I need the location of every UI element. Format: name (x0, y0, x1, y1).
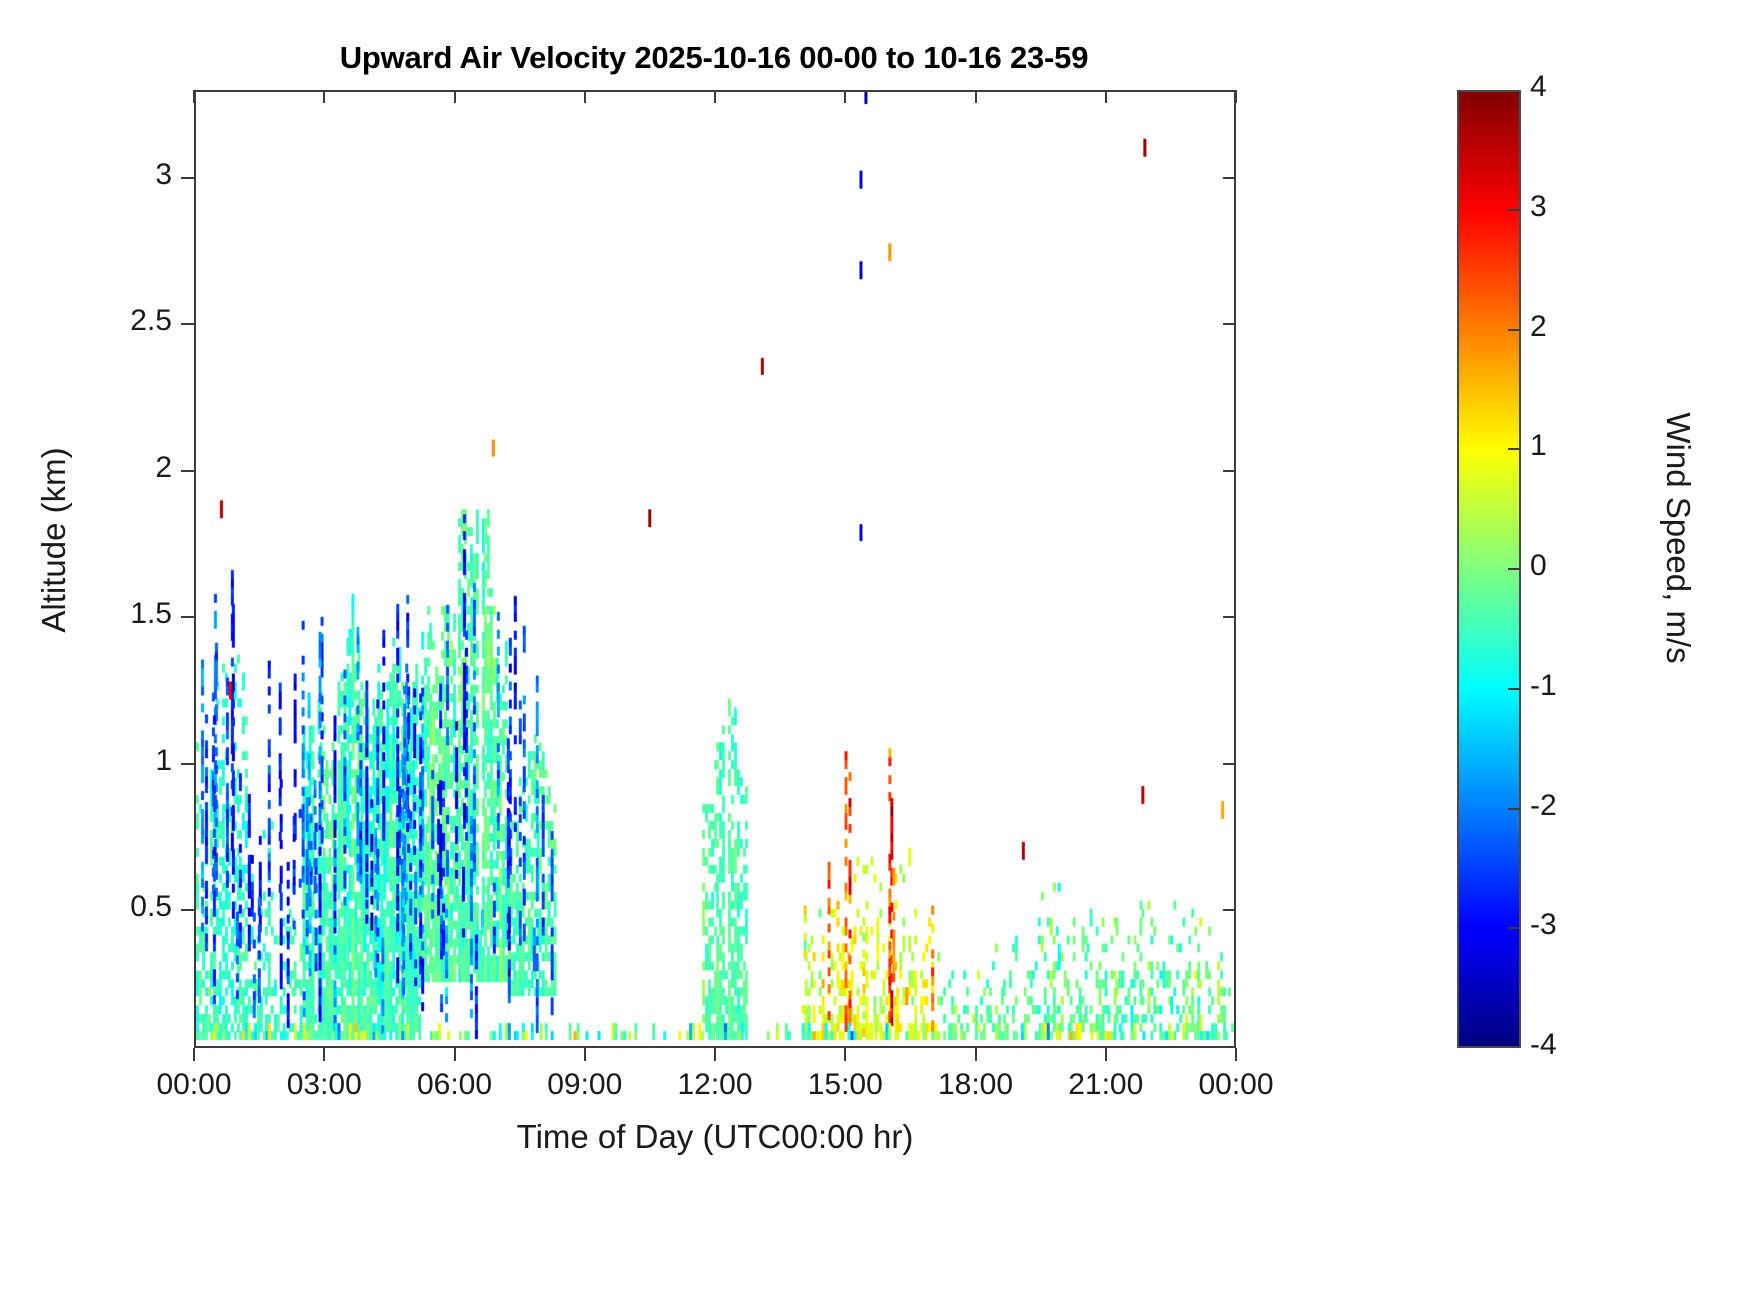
x-tick-mark-top (714, 90, 716, 103)
x-tick-mark-top (1235, 90, 1237, 103)
colorbar-label: Wind Speed, m/s (1659, 328, 1697, 748)
colorbar-tick-label: 3 (1530, 190, 1547, 224)
heatmap-data-canvas (196, 92, 1234, 1046)
colorbar-tick-label: 1 (1530, 429, 1547, 463)
x-tick-mark-top (323, 90, 325, 103)
x-tick-mark-top (584, 90, 586, 103)
y-tick-mark (181, 763, 194, 765)
y-tick-mark (181, 323, 194, 325)
y-tick-label: 2 (0, 451, 172, 485)
page-title: Upward Air Velocity 2025-10-16 00-00 to … (194, 40, 1234, 76)
x-tick-mark-top (193, 90, 195, 103)
y-tick-label: 1.5 (0, 597, 172, 631)
colorbar-tick-label: -3 (1530, 908, 1557, 942)
colorbar-tick-mark (1508, 448, 1521, 450)
x-tick-label: 00:00 (1156, 1068, 1316, 1102)
colorbar-tick-label: 4 (1530, 70, 1547, 104)
chart-page: Upward Air Velocity 2025-10-16 00-00 to … (0, 0, 1750, 1313)
colorbar-tick-label: -2 (1530, 789, 1557, 823)
x-tick-mark-top (454, 90, 456, 103)
x-tick-mark (193, 1048, 195, 1061)
y-tick-label: 2.5 (0, 304, 172, 338)
y-tick-label: 3 (0, 158, 172, 192)
x-tick-mark (1235, 1048, 1237, 1061)
x-tick-mark-top (844, 90, 846, 103)
y-tick-label: 0.5 (0, 890, 172, 924)
colorbar-tick-mark (1508, 927, 1521, 929)
x-tick-mark (975, 1048, 977, 1061)
y-tick-mark (181, 470, 194, 472)
y-tick-mark-right (1223, 323, 1236, 325)
y-tick-mark-right (1223, 177, 1236, 179)
x-tick-mark-top (975, 90, 977, 103)
x-tick-mark-top (1105, 90, 1107, 103)
colorbar-tick-label: 0 (1530, 549, 1547, 583)
x-tick-mark (714, 1048, 716, 1061)
x-tick-mark (584, 1048, 586, 1061)
colorbar-tick-mark (1508, 209, 1521, 211)
y-tick-mark-right (1223, 616, 1236, 618)
x-tick-mark (844, 1048, 846, 1061)
y-tick-mark (181, 177, 194, 179)
x-tick-mark (323, 1048, 325, 1061)
x-tick-mark (454, 1048, 456, 1061)
y-tick-mark-right (1223, 763, 1236, 765)
y-tick-mark (181, 616, 194, 618)
y-tick-mark-right (1223, 470, 1236, 472)
y-tick-mark (181, 909, 194, 911)
y-tick-mark-right (1223, 909, 1236, 911)
colorbar-tick-mark (1508, 329, 1521, 331)
colorbar-tick-label: -4 (1530, 1028, 1557, 1062)
x-axis-label: Time of Day (UTC00:00 hr) (194, 1118, 1236, 1156)
colorbar-tick-mark (1508, 568, 1521, 570)
y-tick-label: 1 (0, 744, 172, 778)
colorbar-tick-label: 2 (1530, 310, 1547, 344)
x-tick-mark (1105, 1048, 1107, 1061)
colorbar-tick-mark (1508, 688, 1521, 690)
colorbar-tick-mark (1508, 808, 1521, 810)
plot-axes (194, 90, 1236, 1048)
colorbar-tick-label: -1 (1530, 669, 1557, 703)
y-axis-label: Altitude (km) (35, 390, 73, 690)
